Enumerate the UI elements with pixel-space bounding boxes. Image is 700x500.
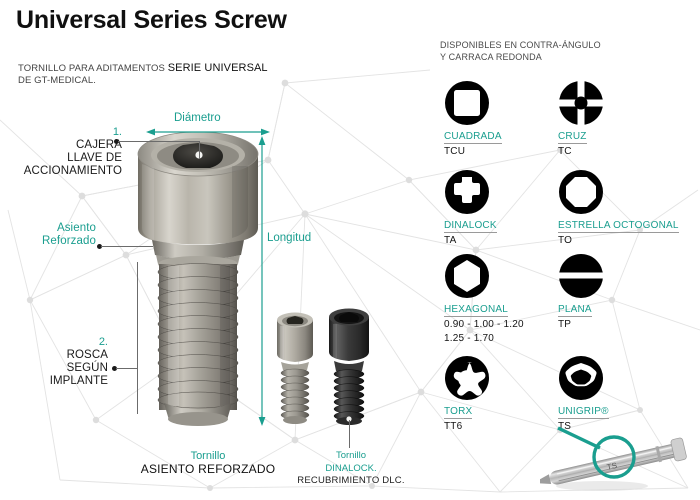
callout-rosca: 2. ROSCA SEGÚN IMPLANTE [8, 336, 108, 388]
callout-1-line-1: CAJERA [10, 139, 122, 152]
flat-drive-icon [558, 253, 604, 299]
callout-3-line-1: ROSCA [8, 349, 108, 362]
subtitle-line1-b: SERIE UNIVERSAL [168, 62, 268, 74]
callout-1-line-2: LLAVE DE [10, 152, 122, 165]
page-title: Universal Series Screw [16, 6, 287, 35]
caption-asiento-reforzado: Tornillo ASIENTO REFORZADO [98, 450, 318, 475]
driver-plana[interactable]: PLANA TP [558, 253, 678, 331]
driver-dinalock-name: DINALOCK [444, 220, 497, 233]
right-panel-heading: DISPONIBLES EN CONTRA-ÁNGULO Y CARRACA R… [440, 40, 601, 63]
driver-torx-name: TORX [444, 406, 472, 419]
driver-estrella-name: ESTRELLA OCTOGONAL [558, 220, 679, 233]
driver-dinalock[interactable]: DINALOCK TA [444, 169, 564, 247]
driver-unigrip-name: UNIGRIP® [558, 406, 609, 419]
callout-3-brace-vertical [137, 262, 138, 414]
unigrip-drive-icon [558, 355, 604, 401]
caption-2-bottom-2: RECUBRIMIENTO DLC. [288, 475, 414, 488]
callout-3-line-3: IMPLANTE [8, 375, 108, 388]
square-drive-icon [444, 80, 490, 126]
subtitle-line2: DE GT-MEDICAL. [18, 75, 268, 87]
driver-cruz-code: TC [558, 146, 678, 158]
callout-3-number: 2. [8, 336, 108, 349]
driver-dinalock-code: TA [444, 235, 564, 247]
driver-cruz[interactable]: CRUZ TC [558, 80, 678, 158]
caption-2-top: Tornillo [288, 450, 414, 463]
panel-heading-line-2: Y CARRACA REDONDA [440, 52, 601, 64]
caption-1-bottom: ASIENTO REFORZADO [98, 463, 318, 476]
caption-1-top: Tornillo [98, 450, 318, 463]
driver-hexagonal-code: 0.90 - 1.00 - 1.20 [444, 319, 564, 331]
diameter-arrow [146, 126, 270, 138]
length-arrow [256, 136, 268, 426]
driver-estrella-code: TO [558, 235, 698, 247]
universal-screw-illustration [128, 128, 268, 438]
driver-estrella-octogonal[interactable]: ESTRELLA OCTOGONAL TO [558, 169, 698, 247]
dinalock-drive-icon [444, 169, 490, 215]
driver-plana-name: PLANA [558, 304, 592, 317]
panel-heading-line-1: DISPONIBLES EN CONTRA-ÁNGULO [440, 40, 601, 52]
callout-2-line-2: Reforzado [10, 235, 96, 248]
driver-cuadrada-code: TCU [444, 146, 564, 158]
driver-cuadrada-name: CUADRADA [444, 131, 502, 144]
diameter-label: Diámetro [174, 112, 221, 124]
callout-2-leader [101, 246, 153, 247]
infographic-canvas: Universal Series Screw TORNILLO PARA ADI… [0, 0, 700, 500]
torx-drive-icon [444, 355, 490, 401]
driver-hexagonal-code-2: 1.25 - 1.70 [444, 333, 564, 345]
subtitle-block: TORNILLO PARA ADITAMENTOS SERIE UNIVERSA… [18, 62, 268, 87]
driver-cruz-name: CRUZ [558, 131, 587, 144]
callout-asiento-reforzado: Asiento Reforzado [10, 222, 96, 248]
callout-2-line-1: Asiento [10, 222, 96, 235]
callout-cajera: 1. CAJERA LLAVE DE ACCIONAMIENTO [10, 126, 122, 178]
callout-3-line-2: SEGÚN [8, 362, 108, 375]
length-label: Longitud [267, 232, 311, 244]
driver-hexagonal-name: HEXAGONAL [444, 304, 508, 317]
callout-1-leader-vertical [199, 141, 200, 159]
dinalock-dlc-screw-illustration [324, 306, 374, 432]
driver-hexagonal[interactable]: HEXAGONAL 0.90 - 1.00 - 1.20 1.25 - 1.70 [444, 253, 564, 344]
caption-dinalock: Tornillo DINALOCK. RECUBRIMIENTO DLC. [288, 450, 414, 488]
screwdriver-tool-illustration: TS [540, 420, 700, 500]
callout-3-leader-horizontal [116, 368, 138, 369]
hexagon-drive-icon [444, 253, 490, 299]
reinforced-seat-screw-illustration [272, 310, 318, 428]
caption-2-bottom-1: DINALOCK. [288, 463, 414, 476]
driver-cuadrada[interactable]: CUADRADA TCU [444, 80, 564, 158]
octagon-drive-icon [558, 169, 604, 215]
callout-1-leader-horizontal [118, 141, 200, 142]
callout-1-line-3: ACCIONAMIENTO [10, 165, 122, 178]
driver-plana-code: TP [558, 319, 678, 331]
callout-1-number: 1. [10, 126, 122, 139]
subtitle-line1-a: TORNILLO PARA ADITAMENTOS [18, 63, 165, 74]
caption-2-leader [349, 420, 350, 448]
cross-drive-icon [558, 80, 604, 126]
